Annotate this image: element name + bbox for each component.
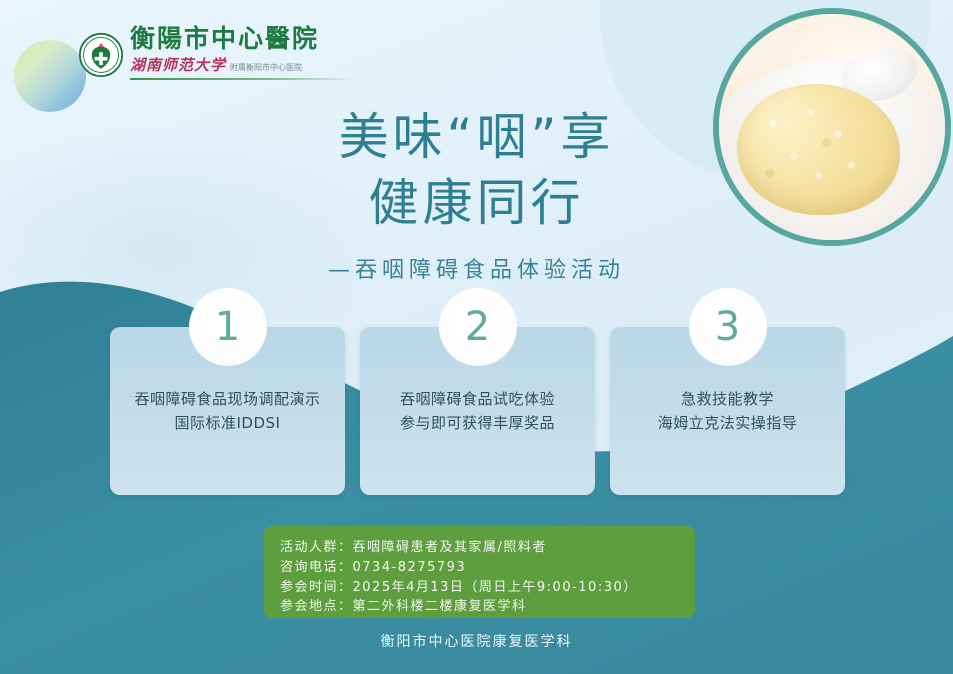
info-line-audience: 活动人群：吞咽障碍患者及其家属/照料者	[280, 538, 679, 558]
card-number-badge-1: 1	[189, 288, 267, 366]
hero-title-block: 美味“咽”享 健康同行 —吞咽障碍食品体验活动	[0, 104, 953, 284]
hospital-cross-leaf-logo-icon	[78, 32, 124, 78]
logo-subtitle-row: 湖南师范大学 附属衡阳市中心医院	[130, 54, 358, 75]
feature-card-2: 2 吞咽障碍食品试吃体验 参与即可获得丰厚奖品	[360, 327, 595, 495]
info-line-time: 参会时间：2025年4月13日（周日上午9:00-10:30）	[280, 578, 679, 598]
card-number-badge-2: 2	[439, 288, 517, 366]
affiliation-note: 附属衡阳市中心医院	[230, 62, 302, 73]
card-number-badge-3: 3	[689, 288, 767, 366]
gradient-circle-decoration	[14, 40, 86, 112]
hospital-name: 衡陽市中心醫院	[130, 26, 358, 52]
logo-block: 衡陽市中心醫院 湖南师范大学 附属衡阳市中心医院	[78, 26, 358, 80]
poster-canvas: 衡陽市中心醫院 湖南师范大学 附属衡阳市中心医院 美味“咽”享 健康同行 —吞咽…	[0, 0, 953, 674]
card-body-3: 急救技能教学 海姆立克法实操指导	[610, 387, 845, 436]
card-2-line-1: 吞咽障碍食品试吃体验	[370, 387, 585, 411]
card-3-line-2: 海姆立克法实操指导	[620, 411, 835, 435]
university-name: 湖南师范大学	[130, 54, 226, 75]
feature-card-1: 1 吞咽障碍食品现场调配演示 国际标准IDDSI	[110, 327, 345, 495]
title-line-1: 美味“咽”享	[0, 104, 953, 170]
info-line-phone: 咨询电话：0734-8275793	[280, 558, 679, 578]
card-body-2: 吞咽障碍食品试吃体验 参与即可获得丰厚奖品	[360, 387, 595, 436]
event-info-box: 活动人群：吞咽障碍患者及其家属/照料者 咨询电话：0734-8275793 参会…	[264, 526, 695, 618]
title-line-2: 健康同行	[0, 170, 953, 236]
card-number-3: 3	[715, 307, 740, 347]
card-2-line-2: 参与即可获得丰厚奖品	[370, 411, 585, 435]
footer-department: 衡阳市中心医院康复医学科	[0, 631, 953, 651]
card-number-2: 2	[465, 307, 490, 347]
card-1-line-1: 吞咽障碍食品现场调配演示	[120, 387, 335, 411]
card-body-1: 吞咽障碍食品现场调配演示 国际标准IDDSI	[110, 387, 345, 436]
feature-card-3: 3 急救技能教学 海姆立克法实操指导	[610, 327, 845, 495]
card-3-line-1: 急救技能教学	[620, 387, 835, 411]
logo-text-group: 衡陽市中心醫院 湖南师范大学 附属衡阳市中心医院	[130, 26, 358, 80]
card-number-1: 1	[215, 307, 240, 347]
info-line-place: 参会地点：第二外科楼二楼康复医学科	[280, 597, 679, 617]
hero-subtitle: —吞咽障碍食品体验活动	[0, 252, 953, 284]
hospital-logo: 衡陽市中心醫院 湖南师范大学 附属衡阳市中心医院	[14, 26, 358, 112]
card-1-line-2: 国际标准IDDSI	[120, 411, 335, 435]
feature-cards: 1 吞咽障碍食品现场调配演示 国际标准IDDSI 2 吞咽障碍食品试吃体验 参与…	[110, 327, 845, 495]
logo-divider	[130, 78, 358, 80]
